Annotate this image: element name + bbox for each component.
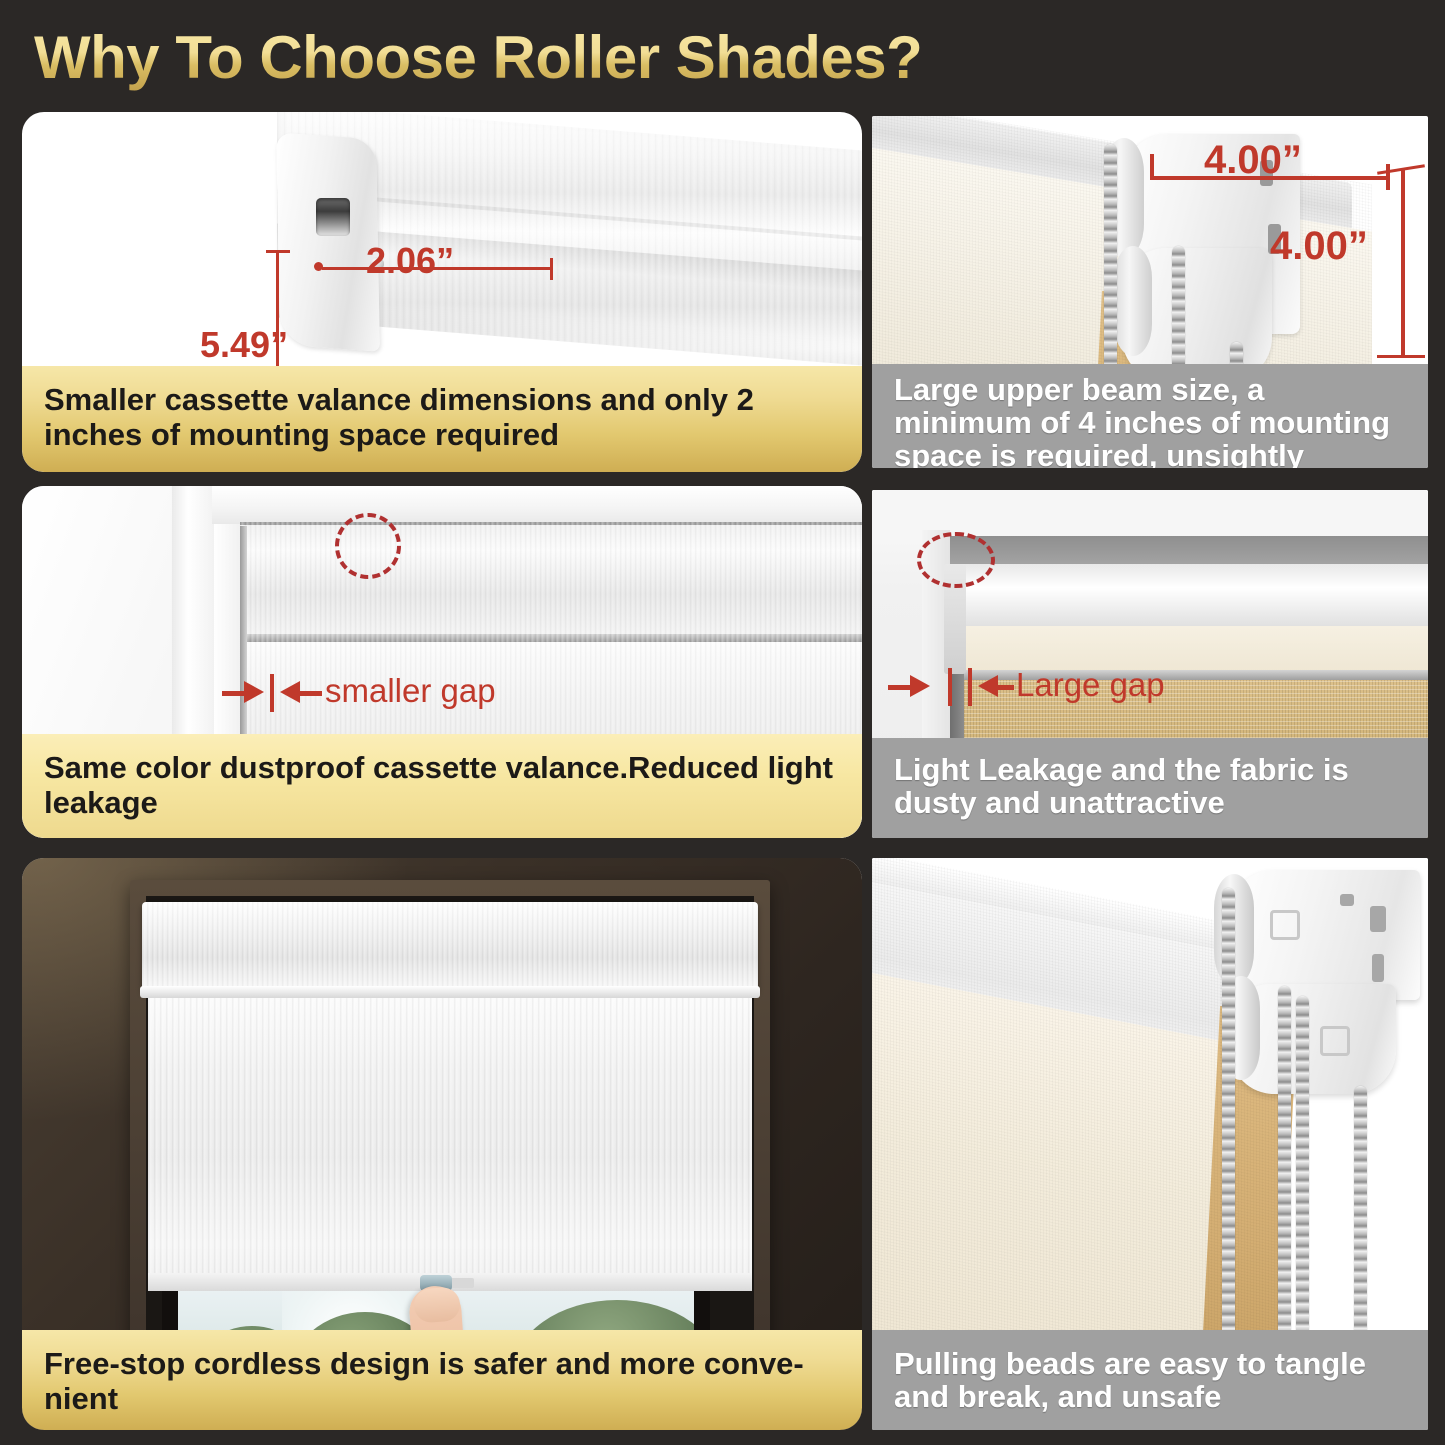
roller-shade-texture [148,998,752,1288]
gap-marker-bar [270,674,274,712]
width-dimension-tick-right [550,258,553,280]
bracket-notch-c [1372,954,1384,982]
beam-roller-lower [1114,246,1152,356]
beam-height-tick-bottom [1377,355,1425,358]
bead-chain-left [1222,888,1235,1388]
highlight-circle-icon [917,532,995,588]
highlight-circle-icon [335,513,401,579]
bracket-notch-b [1370,906,1386,932]
gap-arrow-right-stem [998,685,1014,690]
gap-callout-label: Large gap [1016,666,1165,704]
leakage-roller-tube [950,564,1428,632]
beam-width-tick-left [1150,154,1154,180]
gap-arrow-left-head [910,675,930,697]
panel-4-caption: Light Leakage and the fabric is dusty an… [872,738,1428,838]
panel-1-caption: Smaller cassette valance dimensions and … [22,366,862,472]
panel-cordless-design: Free-stop cordless design is safer and m… [22,858,862,1430]
panel-2-caption: Large upper beam size, a minimum of 4 in… [872,364,1428,468]
panel-large-beam: 4.00” 4.00” Large upper beam size, a min… [872,116,1428,468]
gap-arrow-right-stem [300,691,322,696]
height-dimension-tick-top [266,250,290,253]
window-head-trim [212,486,862,524]
panel-light-leakage: Large gap Light Leakage and the fabric i… [872,490,1428,838]
bracket-emblem-icon [1320,1026,1350,1056]
bracket-emblem-icon [1270,910,1300,940]
gap-arrow-left-stem [222,691,244,696]
bracket-notch-a [1340,894,1354,906]
panel-6-caption: Pulling beads are easy to tangle and bre… [872,1330,1428,1430]
gap-marker-bar-b [968,668,972,706]
bead-bracket-upper [1230,870,1420,1000]
valance-endcap [276,132,380,351]
beam-height-dimension-label: 4.00” [1270,224,1368,269]
panel-smaller-cassette: 5.49” 2.06” Smaller cassette valance dim… [22,112,862,472]
panel-pulling-beads: Pulling beads are easy to tangle and bre… [872,858,1428,1430]
valance-texture-room [142,902,758,992]
height-dimension-label: 5.49” [200,324,288,366]
beam-width-dimension-label: 4.00” [1204,138,1302,183]
gap-callout-label: smaller gap [325,672,496,710]
endcap-slot-icon [316,198,350,236]
width-dimension-label: 2.06” [366,240,454,282]
panel-5-caption: Free-stop cordless design is safer and m… [22,1330,862,1430]
gap-marker-bar-a [948,668,952,706]
valance-lip [140,986,760,998]
gap-arrow-left-head [244,681,264,703]
panel-dustproof-valance: smaller gap Same color dustproof cassett… [22,486,862,838]
panel-3-caption: Same color dustproof cassette valance.Re… [22,734,862,838]
beam-height-dimension-line [1401,168,1405,358]
gap-arrow-right-head [280,681,300,703]
gap-arrow-right-head [978,675,998,697]
beam-width-tick-right [1386,164,1390,190]
infographic-page: Why To Choose Roller Shades? 5.49” 2.06”… [0,0,1445,1445]
leakage-wall-upper [872,490,1428,536]
page-title: Why To Choose Roller Shades? [34,22,1034,94]
gap-arrow-left-stem [888,685,910,690]
